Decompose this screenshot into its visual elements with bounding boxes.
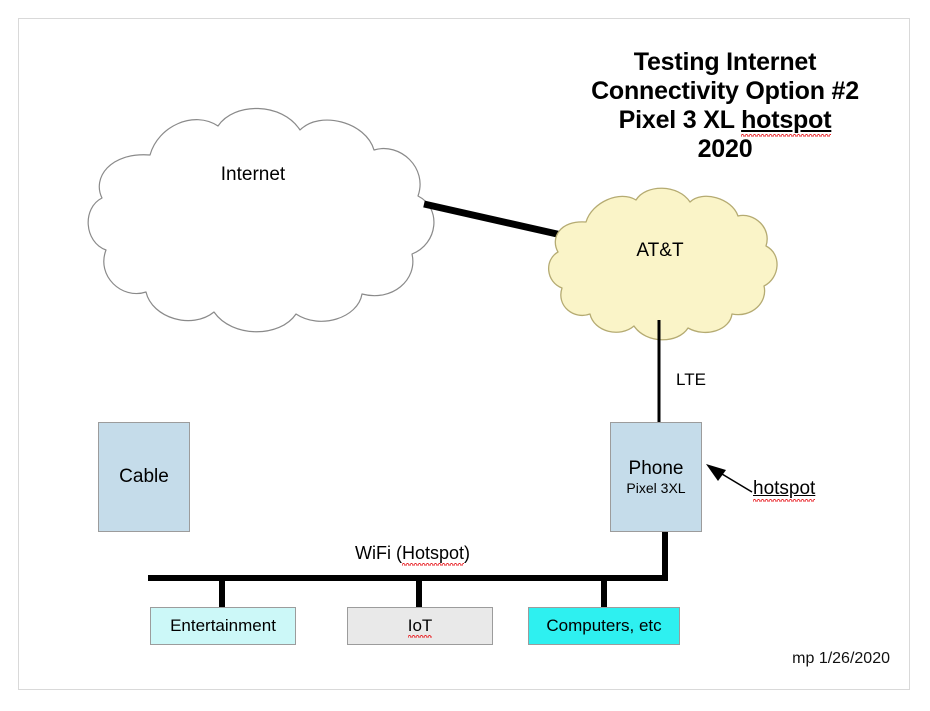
diagram-title: Testing Internet Connectivity Option #2 … <box>560 48 890 164</box>
att-cloud-shape <box>549 188 777 340</box>
title-line-2: Connectivity Option #2 <box>560 77 890 106</box>
cable-node-label: Cable <box>119 466 169 488</box>
lte-link-label: LTE <box>676 370 706 390</box>
hotspot-callout-arrow <box>706 464 752 492</box>
title-line-3: Pixel 3 XL hotspot <box>560 106 890 135</box>
cable-node[interactable]: Cable <box>98 422 190 532</box>
wifi-link-label-text: WiFi ( <box>355 543 402 563</box>
att-cloud-label: AT&T <box>600 240 720 262</box>
title-line-3-flagged-word: hotspot <box>741 106 831 135</box>
wifi-link-label-flagged-word: Hotspot <box>402 543 464 564</box>
title-line-1: Testing Internet <box>560 48 890 77</box>
author-date-signature: mp 1/26/2020 <box>740 650 890 668</box>
hotspot-annotation-label: hotspot <box>753 478 815 500</box>
internet-cloud-shape <box>88 108 434 331</box>
iot-node-label: IoT <box>408 616 433 636</box>
title-line-4: 2020 <box>560 135 890 164</box>
wifi-link-label-tail: ) <box>464 543 470 563</box>
iot-node[interactable]: IoT <box>347 607 493 645</box>
phone-node-subtitle: Pixel 3XL <box>626 480 685 497</box>
link-internet-to-att <box>424 204 566 236</box>
phone-node-title: Phone <box>629 458 684 480</box>
computers-node-label: Computers, etc <box>546 616 661 636</box>
entertainment-node[interactable]: Entertainment <box>150 607 296 645</box>
entertainment-node-label: Entertainment <box>170 616 276 636</box>
phone-node[interactable]: Phone Pixel 3XL <box>610 422 702 532</box>
internet-cloud-label: Internet <box>193 164 313 186</box>
computers-node[interactable]: Computers, etc <box>528 607 680 645</box>
title-line-3-text: Pixel 3 XL <box>619 106 741 134</box>
diagram-canvas: Testing Internet Connectivity Option #2 … <box>0 0 930 711</box>
wifi-link-label: WiFi (Hotspot) <box>355 543 470 564</box>
